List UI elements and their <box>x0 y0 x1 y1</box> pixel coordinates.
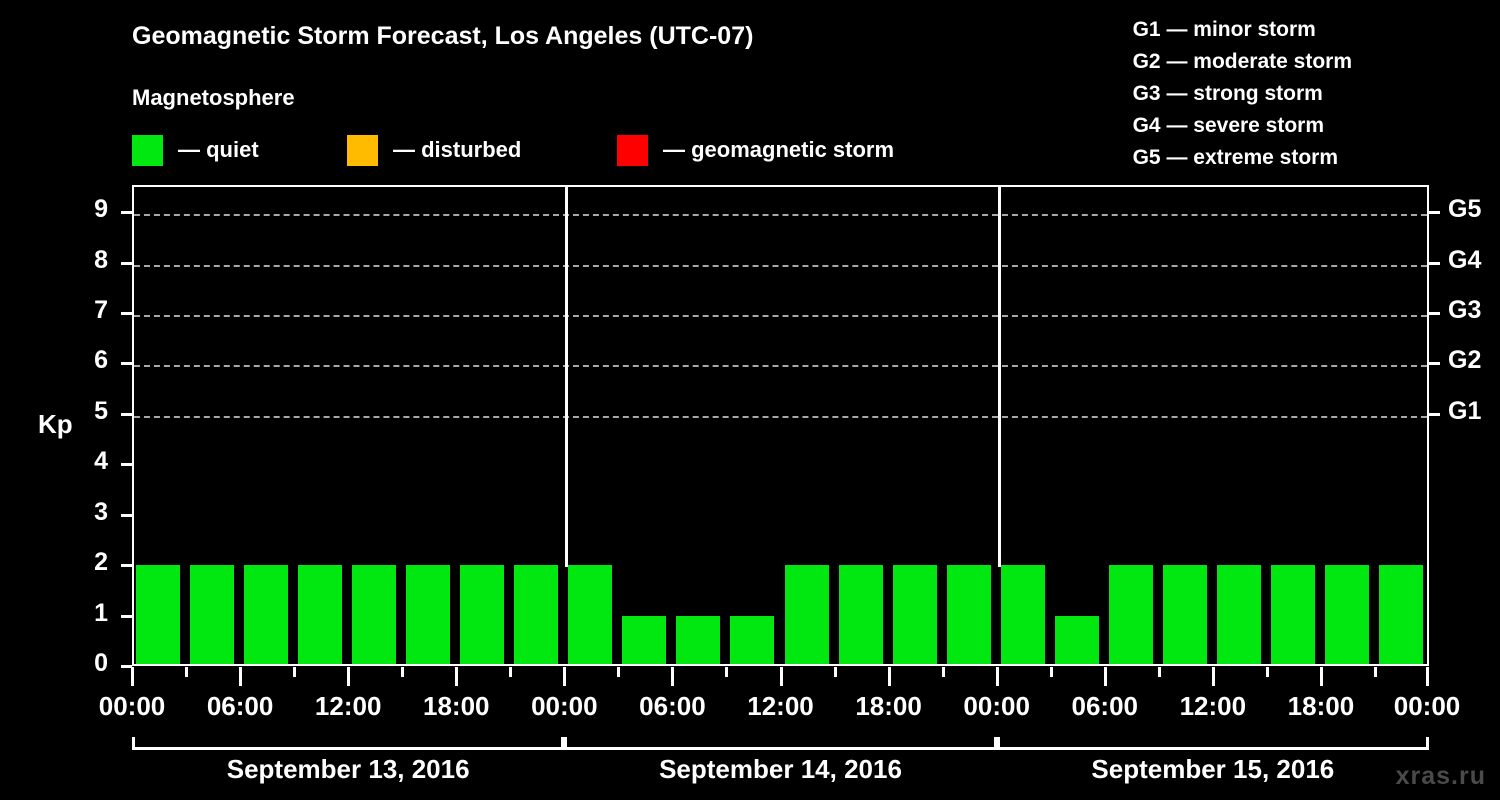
x-tick-major <box>1426 667 1429 686</box>
bar <box>730 616 774 664</box>
legend-label: — geomagnetic storm <box>663 137 894 163</box>
x-tick-label: 12:00 <box>315 691 382 722</box>
bar <box>406 565 450 664</box>
bar <box>1271 565 1315 664</box>
x-tick-minor <box>1158 667 1161 677</box>
bar <box>1379 565 1423 664</box>
date-label: September 13, 2016 <box>227 754 470 785</box>
x-tick-minor <box>1266 667 1269 677</box>
y-tick-label-6: 6 <box>74 346 108 375</box>
g-legend-row-g4: G4 — severe storm <box>1133 110 1352 142</box>
y-tick-label-8: 8 <box>74 246 108 275</box>
page-title: Geomagnetic Storm Forecast, Los Angeles … <box>132 22 753 51</box>
day-bracket <box>564 737 996 750</box>
y-tick-label-9: 9 <box>74 195 108 224</box>
date-label: September 14, 2016 <box>659 754 902 785</box>
g-axis-label-g2: G2 <box>1448 346 1481 375</box>
y-tick-mark-7 <box>121 312 132 315</box>
x-tick-minor <box>617 667 620 677</box>
x-tick-label: 00:00 <box>99 691 166 722</box>
g-legend-row-g5: G5 — extreme storm <box>1133 142 1352 174</box>
x-tick-minor <box>1374 667 1377 677</box>
bar <box>1001 565 1045 664</box>
y-tick-label-0: 0 <box>74 649 108 678</box>
y-axis-title: Kp <box>38 409 73 440</box>
bar <box>893 565 937 664</box>
x-tick-minor <box>293 667 296 677</box>
watermark: xras.ru <box>1396 762 1486 791</box>
bar <box>460 565 504 664</box>
bar <box>947 565 991 664</box>
x-tick-major <box>671 667 674 686</box>
y-tick-mark-4 <box>121 463 132 466</box>
g-axis-label-g4: G4 <box>1448 246 1481 275</box>
x-tick-major <box>1320 667 1323 686</box>
bar <box>514 565 558 664</box>
x-tick-major <box>455 667 458 686</box>
bar <box>622 616 666 664</box>
y-tick-mark-1 <box>121 615 132 618</box>
g-axis-label-g5: G5 <box>1448 195 1481 224</box>
date-label: September 15, 2016 <box>1091 754 1334 785</box>
x-tick-minor <box>834 667 837 677</box>
x-tick-label: 00:00 <box>1394 691 1461 722</box>
green-swatch <box>132 135 163 166</box>
x-tick-label: 12:00 <box>1180 691 1247 722</box>
bar <box>1217 565 1261 664</box>
x-tick-label: 00:00 <box>963 691 1030 722</box>
g-axis-label-g1: G1 <box>1448 397 1481 426</box>
y-tick-label-5: 5 <box>74 397 108 426</box>
y-tick-mark-8 <box>121 262 132 265</box>
x-tick-minor <box>401 667 404 677</box>
x-tick-label: 12:00 <box>747 691 814 722</box>
y-tick-label-4: 4 <box>74 447 108 476</box>
bar <box>190 565 234 664</box>
gridline-kp-6 <box>134 365 1427 367</box>
bar <box>352 565 396 664</box>
x-tick-major <box>888 667 891 686</box>
x-tick-label: 18:00 <box>855 691 922 722</box>
x-tick-label: 18:00 <box>1288 691 1355 722</box>
day-divider <box>998 187 1001 567</box>
x-tick-major <box>1212 667 1215 686</box>
y-tick-label-1: 1 <box>74 599 108 628</box>
g-scale-legend: G1 — minor stormG2 — moderate stormG3 — … <box>1133 14 1352 174</box>
day-divider <box>565 187 568 567</box>
bar <box>785 565 829 664</box>
g-tick-mark-g5 <box>1429 211 1440 214</box>
x-tick-major <box>131 667 134 686</box>
y-tick-label-3: 3 <box>74 498 108 527</box>
bar <box>568 565 612 664</box>
y-tick-label-7: 7 <box>74 296 108 325</box>
x-tick-minor <box>942 667 945 677</box>
x-tick-major <box>996 667 999 686</box>
gridline-kp-9 <box>134 214 1427 216</box>
legend-entry-red: — geomagnetic storm <box>617 133 894 167</box>
y-tick-mark-3 <box>121 514 132 517</box>
bar <box>1325 565 1369 664</box>
x-tick-minor <box>185 667 188 677</box>
legend-entry-orange: — disturbed <box>347 133 521 167</box>
bar <box>1055 616 1099 664</box>
legend-entry-green: — quiet <box>132 133 259 167</box>
geomagnetic-forecast-chart: Geomagnetic Storm Forecast, Los Angeles … <box>0 0 1500 800</box>
bar <box>298 565 342 664</box>
x-tick-label: 18:00 <box>423 691 490 722</box>
gridline-kp-7 <box>134 315 1427 317</box>
orange-swatch <box>347 135 378 166</box>
x-tick-label: 06:00 <box>207 691 274 722</box>
g-legend-row-g1: G1 — minor storm <box>1133 14 1352 46</box>
red-swatch <box>617 135 648 166</box>
bar <box>136 565 180 664</box>
bar <box>676 616 720 664</box>
x-tick-label: 06:00 <box>1072 691 1139 722</box>
x-tick-label: 06:00 <box>639 691 706 722</box>
plot-area <box>132 185 1429 666</box>
gridline-kp-8 <box>134 265 1427 267</box>
day-bracket <box>997 737 1429 750</box>
y-tick-mark-2 <box>121 564 132 567</box>
x-tick-minor <box>509 667 512 677</box>
x-tick-major <box>239 667 242 686</box>
g-legend-row-g3: G3 — strong storm <box>1133 78 1352 110</box>
bar <box>1109 565 1153 664</box>
bar <box>839 565 883 664</box>
x-tick-major <box>1104 667 1107 686</box>
g-axis-label-g3: G3 <box>1448 296 1481 325</box>
x-tick-major <box>563 667 566 686</box>
bar <box>1163 565 1207 664</box>
x-tick-label: 00:00 <box>531 691 598 722</box>
legend-label: — quiet <box>178 137 259 163</box>
bar <box>244 565 288 664</box>
x-tick-minor <box>725 667 728 677</box>
y-tick-mark-6 <box>121 362 132 365</box>
x-tick-major <box>347 667 350 686</box>
g-tick-mark-g3 <box>1429 312 1440 315</box>
y-tick-mark-5 <box>121 413 132 416</box>
g-tick-mark-g4 <box>1429 262 1440 265</box>
day-bracket <box>132 737 564 750</box>
y-tick-mark-9 <box>121 211 132 214</box>
g-legend-row-g2: G2 — moderate storm <box>1133 46 1352 78</box>
gridline-kp-5 <box>134 416 1427 418</box>
g-tick-mark-g2 <box>1429 362 1440 365</box>
x-tick-major <box>780 667 783 686</box>
chart-subtitle: Magnetosphere <box>132 85 295 111</box>
x-tick-minor <box>1050 667 1053 677</box>
legend-label: — disturbed <box>393 137 521 163</box>
y-tick-label-2: 2 <box>74 548 108 577</box>
g-tick-mark-g1 <box>1429 413 1440 416</box>
